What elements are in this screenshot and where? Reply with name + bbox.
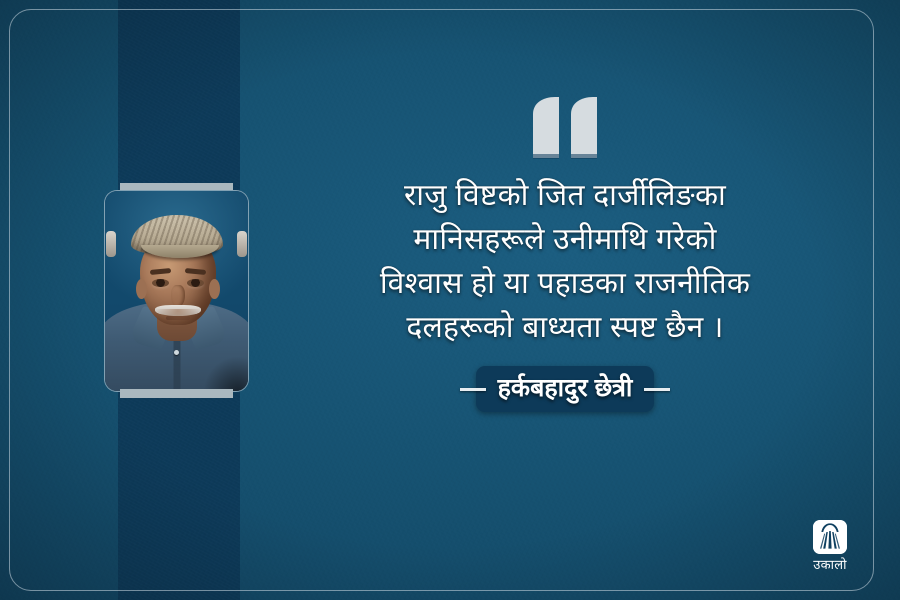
quote-column: राजु विष्टको जित दार्जीलिङका मानिसहरूले … [285,96,845,410]
quote-line: दलहरूको बाध्यता स्पष्ट छैन । [285,306,845,350]
eyebrow-left-shape [149,268,170,275]
portrait-block [104,183,254,398]
brand-logo[interactable]: उकालो [802,520,858,572]
shirt-button-shape [174,350,179,355]
quote-line: राजु विष्टको जित दार्जीलिङका [285,174,845,218]
ear-left-shape [136,279,147,299]
eyebrow-right-shape [184,268,205,275]
quote-text: राजु विष्टको जित दार्जीलिङका मानिसहरूले … [285,174,845,350]
attribution-dash-left [460,388,486,391]
quote-line: मानिसहरूले उनीमाथि गरेको [285,218,845,262]
attribution: हर्कबहादुर छेत्री [285,368,845,410]
ukaalo-mountain-path-icon [813,520,847,554]
eye-left-shape [152,279,169,287]
chin-shape [156,309,200,327]
attribution-badge: हर्कबहादुर छेत्री [476,366,655,412]
nose-shape [171,285,185,307]
portrait-bottom-bar [120,389,233,398]
portrait-frame [104,190,249,392]
eye-right-shape [187,279,204,287]
sideburn-right-shape [237,231,247,257]
quote-card: राजु विष्टको जित दार्जीलिङका मानिसहरूले … [0,0,900,600]
portrait-photo [105,191,248,391]
quote-line: विश्वास हो या पहाडका राजनीतिक [285,262,845,306]
logo-wordmark: उकालो [802,557,858,572]
attribution-name: हर्कबहादुर छेत्री [498,374,633,402]
closing-quotation-mark-icon [285,96,845,168]
ear-right-shape [209,279,220,299]
attribution-dash-right [644,388,670,391]
sideburn-left-shape [106,231,116,257]
